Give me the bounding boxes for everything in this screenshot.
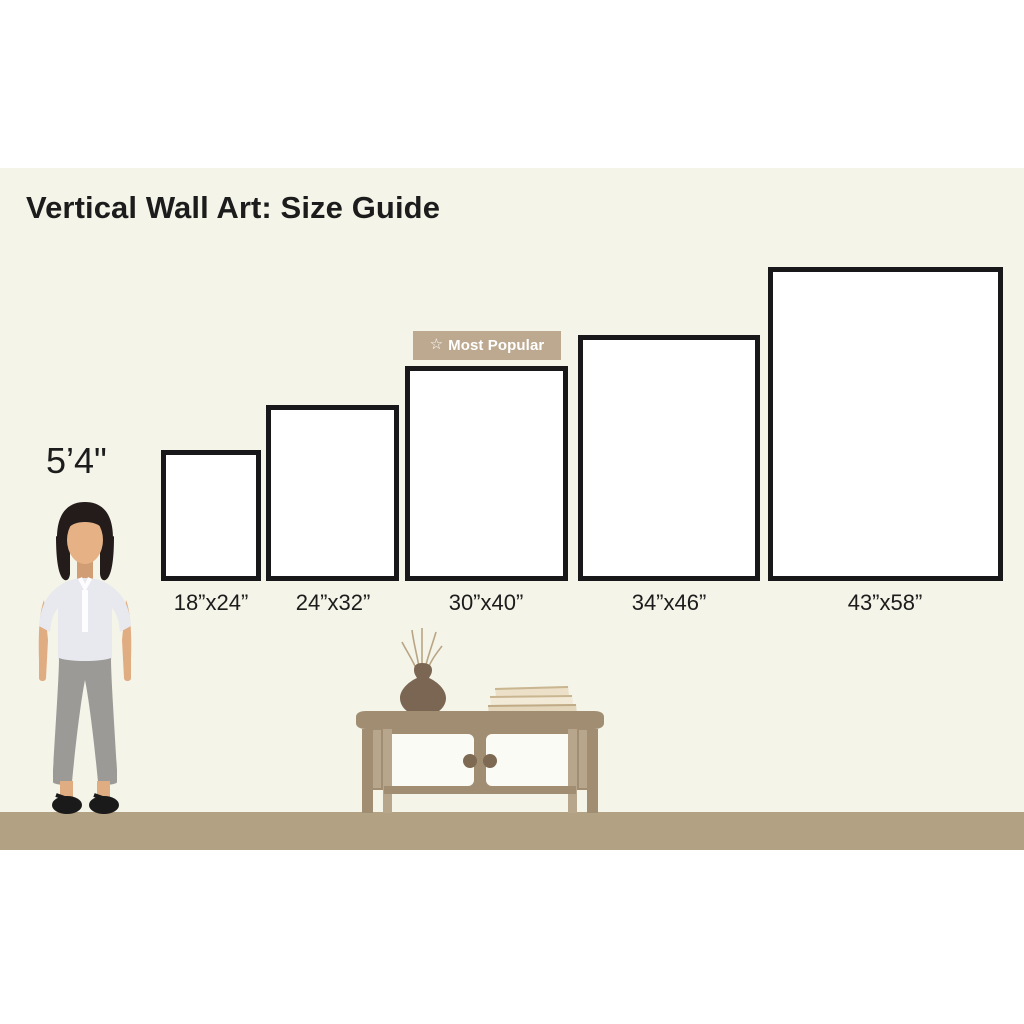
frame-30x40[interactable] [405, 366, 568, 581]
post-inner-right [579, 730, 588, 788]
table-top [356, 711, 604, 729]
frame-18x24[interactable] [161, 450, 261, 581]
most-popular-badge[interactable]: ☆ Most Popular [413, 331, 561, 360]
console-table-svg [350, 618, 610, 816]
woman-figure-svg [20, 500, 150, 818]
blouse-placket [82, 590, 88, 632]
cabinet-door-right[interactable] [486, 734, 574, 786]
frame-label-43x58: 43”x58” [829, 590, 941, 616]
leg-front-left [362, 729, 373, 813]
frame-24x32[interactable] [266, 405, 399, 581]
frame-label-18x24: 18”x24” [155, 590, 267, 616]
frame-label-30x40: 30”x40” [430, 590, 542, 616]
vase [400, 663, 446, 716]
console-table [350, 618, 610, 816]
cabinet-knob-right[interactable] [483, 754, 497, 768]
human-scale-figure [20, 500, 150, 818]
most-popular-badge-label: Most Popular [448, 338, 544, 353]
cabinet-knob-left[interactable] [463, 754, 477, 768]
star-outline-icon: ☆ [430, 337, 443, 352]
post-inner-left [372, 730, 381, 788]
frame-34x46[interactable] [578, 335, 760, 581]
cabinet-door-left[interactable] [386, 734, 474, 786]
ankle-left [60, 781, 73, 797]
leg-back-left [383, 729, 392, 813]
frame-43x58[interactable] [768, 267, 1003, 581]
stretcher-rail [384, 786, 576, 794]
leg-front-right [587, 729, 598, 813]
frame-label-24x32: 24”x32” [277, 590, 389, 616]
leg-back-right [568, 729, 577, 813]
page-title: Vertical Wall Art: Size Guide [26, 190, 440, 226]
ankle-right [97, 781, 110, 797]
frame-label-34x46: 34”x46” [613, 590, 725, 616]
size-guide-illustration: Vertical Wall Art: Size Guide 5’4" [0, 0, 1024, 1024]
height-reference-label: 5’4" [46, 440, 107, 482]
floor-band [0, 812, 1024, 850]
pants [53, 658, 117, 785]
